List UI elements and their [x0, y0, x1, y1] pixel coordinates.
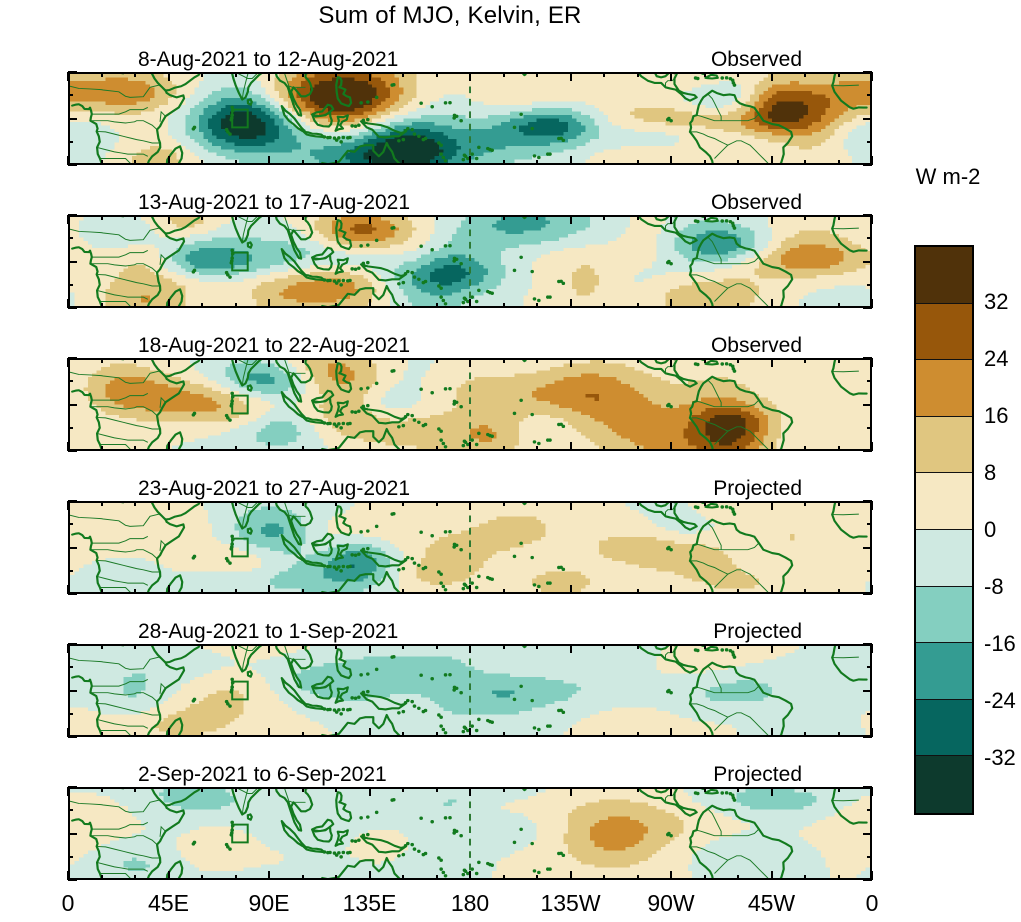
xtick-bottom-225 — [570, 871, 572, 880]
xtick-top-225 — [570, 358, 572, 367]
colorbar-tick-neg32: -32 — [984, 745, 1016, 771]
panel-6-date-range: 2-Sep-2021 to 6-Sep-2021 — [138, 762, 387, 787]
panel-3-status-label: Observed — [711, 333, 802, 358]
xtick-top-180 — [469, 644, 471, 653]
xtick-top-0 — [67, 501, 69, 510]
xtick-top-360 — [871, 787, 873, 796]
xtick-bottom-15 — [101, 732, 103, 737]
xtick-bottom-285 — [704, 160, 706, 165]
xtick-top-210 — [536, 787, 538, 792]
xtick-top-15 — [101, 501, 103, 506]
xtick-top-195 — [503, 644, 505, 649]
panel-4-plot-area — [68, 501, 872, 594]
ytick-right--20 — [863, 164, 872, 166]
xtick-top-345 — [838, 501, 840, 506]
xtick-bottom-120 — [335, 446, 337, 451]
xtick-bottom-195 — [503, 160, 505, 165]
xtick-top-0 — [67, 215, 69, 224]
map-panel-1: 8-Aug-2021 to 12-Aug-2021Observed20N020S — [68, 72, 872, 165]
ytick-right--10 — [867, 427, 872, 429]
xtick-bottom-300 — [737, 160, 739, 165]
xtick-top-45 — [168, 215, 170, 224]
ytick-left-20 — [68, 500, 77, 502]
xtick-top-15 — [101, 72, 103, 77]
ytick-right-0 — [863, 690, 872, 692]
xtick-top-15 — [101, 787, 103, 792]
xtick-bottom-180 — [469, 585, 471, 594]
xtick-bottom-270 — [670, 156, 672, 165]
xtick-bottom-240 — [603, 875, 605, 880]
ytick-right--10 — [867, 713, 872, 715]
ytick-left-0 — [68, 833, 77, 835]
ytick-right--10 — [867, 570, 872, 572]
xtick-top-150 — [402, 501, 404, 506]
map-panel-5: 28-Aug-2021 to 1-Sep-2021Projected20N020… — [68, 644, 872, 737]
xtick-top-330 — [804, 215, 806, 220]
xtick-bottom-330 — [804, 446, 806, 451]
ytick-left-20 — [68, 357, 77, 359]
xtick-bottom-330 — [804, 589, 806, 594]
xtick-top-315 — [771, 644, 773, 653]
colorbar-band-3 — [916, 417, 972, 474]
xtick-top-330 — [804, 358, 806, 363]
xtick-top-0 — [67, 358, 69, 367]
xtick-top-60 — [201, 72, 203, 77]
xtick-top-180 — [469, 72, 471, 81]
xtick-top-210 — [536, 501, 538, 506]
xtick-top-240 — [603, 215, 605, 220]
xtick-bottom-195 — [503, 732, 505, 737]
xtick-bottom-225 — [570, 156, 572, 165]
xtick-bottom-90 — [268, 442, 270, 451]
ytick-right-0 — [863, 118, 872, 120]
ytick-right--10 — [867, 856, 872, 858]
xtick-top-90 — [268, 787, 270, 796]
xtick-top-285 — [704, 501, 706, 506]
xtick-bottom-165 — [436, 875, 438, 880]
colorbar-band-6 — [916, 587, 972, 644]
xtick-bottom-60 — [201, 732, 203, 737]
xtick-bottom-330 — [804, 303, 806, 308]
xtick-top-210 — [536, 72, 538, 77]
ytick-right-20 — [863, 643, 872, 645]
ytick-right-20 — [863, 71, 872, 73]
colorbar-band-9 — [916, 756, 972, 813]
xtick-top-30 — [134, 72, 136, 77]
xtick-bottom-135 — [369, 442, 371, 451]
xtick-top-285 — [704, 72, 706, 77]
xtick-bottom-135 — [369, 299, 371, 308]
xtick-top-255 — [637, 215, 639, 220]
xtick-top-60 — [201, 501, 203, 506]
xtick-bottom-315 — [771, 728, 773, 737]
xtick-top-90 — [268, 72, 270, 81]
panel-3-plot-area — [68, 358, 872, 451]
xtick-top-225 — [570, 644, 572, 653]
x-axis: 045E90E135E180135W90W45W0 — [68, 884, 872, 920]
xtick-top-360 — [871, 358, 873, 367]
xtick-top-150 — [402, 358, 404, 363]
xtick-top-30 — [134, 358, 136, 363]
xtick-top-165 — [436, 644, 438, 649]
xtick-top-285 — [704, 787, 706, 792]
xtick-bottom-180 — [469, 728, 471, 737]
colorbar-tick-neg8: -8 — [984, 574, 1004, 600]
xtick-bottom-75 — [235, 446, 237, 451]
ytick-right-10 — [867, 237, 872, 239]
ytick-left--20 — [68, 593, 77, 595]
xtick-bottom-285 — [704, 589, 706, 594]
xtick-top-360 — [871, 72, 873, 81]
xtick-top-15 — [101, 358, 103, 363]
xtick-bottom-15 — [101, 589, 103, 594]
xtick-top-30 — [134, 501, 136, 506]
xtick-top-285 — [704, 358, 706, 363]
xaxis-label-3: 135E — [343, 890, 397, 917]
xtick-top-120 — [335, 215, 337, 220]
xtick-bottom-75 — [235, 303, 237, 308]
xtick-top-120 — [335, 787, 337, 792]
xtick-bottom-270 — [670, 728, 672, 737]
xtick-top-75 — [235, 72, 237, 77]
xtick-top-315 — [771, 72, 773, 81]
panel-5-date-range: 28-Aug-2021 to 1-Sep-2021 — [138, 619, 398, 644]
ytick-left--10 — [68, 427, 73, 429]
xtick-bottom-165 — [436, 446, 438, 451]
xaxis-label-0: 0 — [62, 890, 75, 917]
xtick-bottom-240 — [603, 589, 605, 594]
xtick-bottom-345 — [838, 589, 840, 594]
xtick-bottom-15 — [101, 303, 103, 308]
xtick-bottom-135 — [369, 728, 371, 737]
ytick-right--20 — [863, 307, 872, 309]
xtick-bottom-210 — [536, 875, 538, 880]
xtick-bottom-60 — [201, 589, 203, 594]
xtick-top-135 — [369, 644, 371, 653]
xtick-bottom-75 — [235, 160, 237, 165]
panel-6-status-label: Projected — [713, 762, 802, 787]
colorbar-tick-neg16: -16 — [984, 631, 1016, 657]
xtick-bottom-30 — [134, 303, 136, 308]
xtick-top-90 — [268, 501, 270, 510]
xtick-bottom-330 — [804, 732, 806, 737]
panel-4-date-range: 23-Aug-2021 to 27-Aug-2021 — [138, 476, 410, 501]
xtick-bottom-225 — [570, 442, 572, 451]
xtick-top-240 — [603, 644, 605, 649]
xtick-bottom-210 — [536, 589, 538, 594]
xtick-top-90 — [268, 358, 270, 367]
colorbar-tick-16: 16 — [984, 403, 1008, 429]
ytick-right-10 — [867, 809, 872, 811]
xtick-top-315 — [771, 787, 773, 796]
ytick-left-20 — [68, 214, 77, 216]
xtick-bottom-225 — [570, 728, 572, 737]
xtick-bottom-15 — [101, 160, 103, 165]
xtick-top-60 — [201, 787, 203, 792]
panel-5-status-label: Projected — [713, 619, 802, 644]
xtick-bottom-270 — [670, 871, 672, 880]
xtick-top-45 — [168, 787, 170, 796]
xtick-top-45 — [168, 358, 170, 367]
xtick-bottom-135 — [369, 871, 371, 880]
xtick-top-15 — [101, 215, 103, 220]
xtick-top-345 — [838, 72, 840, 77]
xtick-top-330 — [804, 501, 806, 506]
xtick-top-225 — [570, 501, 572, 510]
xtick-bottom-150 — [402, 875, 404, 880]
xtick-top-165 — [436, 501, 438, 506]
xtick-top-135 — [369, 787, 371, 796]
xtick-bottom-30 — [134, 160, 136, 165]
xtick-bottom-345 — [838, 732, 840, 737]
xtick-bottom-150 — [402, 160, 404, 165]
xtick-top-270 — [670, 644, 672, 653]
xtick-top-345 — [838, 644, 840, 649]
xtick-bottom-30 — [134, 589, 136, 594]
xtick-bottom-270 — [670, 299, 672, 308]
xtick-bottom-90 — [268, 156, 270, 165]
ytick-left--20 — [68, 879, 77, 881]
xtick-top-255 — [637, 358, 639, 363]
ytick-left-0 — [68, 547, 77, 549]
xtick-top-180 — [469, 358, 471, 367]
xtick-bottom-90 — [268, 728, 270, 737]
xtick-top-285 — [704, 215, 706, 220]
xtick-top-315 — [771, 215, 773, 224]
xtick-top-255 — [637, 787, 639, 792]
xtick-bottom-15 — [101, 446, 103, 451]
panel-2-date-range: 13-Aug-2021 to 17-Aug-2021 — [138, 190, 410, 215]
ytick-left--20 — [68, 164, 77, 166]
xaxis-label-1: 45E — [148, 890, 189, 917]
xtick-bottom-60 — [201, 160, 203, 165]
xtick-bottom-315 — [771, 871, 773, 880]
ytick-right-0 — [863, 833, 872, 835]
xtick-bottom-225 — [570, 299, 572, 308]
xtick-bottom-120 — [335, 875, 337, 880]
xtick-top-75 — [235, 501, 237, 506]
xtick-bottom-180 — [469, 156, 471, 165]
xtick-top-345 — [838, 787, 840, 792]
map-panel-2: 13-Aug-2021 to 17-Aug-2021Observed20N020… — [68, 215, 872, 308]
colorbar-tick-32: 32 — [984, 289, 1008, 315]
xtick-bottom-240 — [603, 446, 605, 451]
xaxis-label-8: 0 — [866, 890, 879, 917]
ytick-right--20 — [863, 450, 872, 452]
ytick-right-20 — [863, 786, 872, 788]
xtick-top-210 — [536, 644, 538, 649]
xtick-bottom-45 — [168, 299, 170, 308]
xtick-top-330 — [804, 787, 806, 792]
xtick-bottom-45 — [168, 871, 170, 880]
xtick-top-60 — [201, 215, 203, 220]
ytick-left--10 — [68, 713, 73, 715]
ytick-right--20 — [863, 879, 872, 881]
xtick-bottom-45 — [168, 156, 170, 165]
xtick-bottom-210 — [536, 732, 538, 737]
xtick-top-195 — [503, 501, 505, 506]
ytick-right-20 — [863, 357, 872, 359]
panel-1-plot-area — [68, 72, 872, 165]
xtick-top-90 — [268, 644, 270, 653]
ytick-right--20 — [863, 736, 872, 738]
xtick-top-105 — [302, 787, 304, 792]
xtick-bottom-255 — [637, 732, 639, 737]
xtick-top-150 — [402, 215, 404, 220]
xtick-top-300 — [737, 358, 739, 363]
xtick-top-240 — [603, 501, 605, 506]
xtick-bottom-270 — [670, 585, 672, 594]
xtick-bottom-165 — [436, 732, 438, 737]
xtick-bottom-225 — [570, 585, 572, 594]
xtick-bottom-180 — [469, 442, 471, 451]
colorbar-tick-24: 24 — [984, 346, 1008, 372]
ytick-left-0 — [68, 118, 77, 120]
ytick-left-10 — [68, 380, 73, 382]
xtick-top-135 — [369, 501, 371, 510]
xtick-top-315 — [771, 358, 773, 367]
xtick-top-270 — [670, 358, 672, 367]
xtick-bottom-135 — [369, 585, 371, 594]
xtick-bottom-15 — [101, 875, 103, 880]
xtick-top-45 — [168, 72, 170, 81]
xtick-top-45 — [168, 644, 170, 653]
xtick-top-165 — [436, 787, 438, 792]
xtick-bottom-240 — [603, 303, 605, 308]
xtick-bottom-120 — [335, 589, 337, 594]
ytick-left-0 — [68, 261, 77, 263]
xtick-top-165 — [436, 215, 438, 220]
ytick-right-20 — [863, 500, 872, 502]
ytick-left-10 — [68, 809, 73, 811]
xtick-top-240 — [603, 72, 605, 77]
xtick-top-0 — [67, 644, 69, 653]
colorbar-band-8 — [916, 700, 972, 757]
xtick-bottom-90 — [268, 299, 270, 308]
xtick-top-225 — [570, 787, 572, 796]
ytick-left-20 — [68, 71, 77, 73]
ytick-right-10 — [867, 523, 872, 525]
xtick-top-180 — [469, 501, 471, 510]
ytick-left-10 — [68, 237, 73, 239]
xtick-top-135 — [369, 358, 371, 367]
colorbar-band-2 — [916, 360, 972, 417]
xtick-bottom-105 — [302, 732, 304, 737]
xtick-bottom-345 — [838, 875, 840, 880]
xtick-bottom-345 — [838, 160, 840, 165]
xtick-bottom-210 — [536, 446, 538, 451]
xtick-bottom-75 — [235, 875, 237, 880]
xtick-bottom-45 — [168, 585, 170, 594]
xtick-bottom-240 — [603, 160, 605, 165]
xtick-top-75 — [235, 358, 237, 363]
xtick-bottom-195 — [503, 446, 505, 451]
xtick-top-195 — [503, 215, 505, 220]
panel-4-status-label: Projected — [713, 476, 802, 501]
xtick-bottom-150 — [402, 732, 404, 737]
xtick-bottom-180 — [469, 299, 471, 308]
xtick-top-120 — [335, 501, 337, 506]
xtick-bottom-195 — [503, 875, 505, 880]
ytick-right-0 — [863, 547, 872, 549]
xtick-top-255 — [637, 501, 639, 506]
xtick-bottom-45 — [168, 442, 170, 451]
xtick-bottom-165 — [436, 160, 438, 165]
xtick-bottom-105 — [302, 303, 304, 308]
colorbar-tick-8: 8 — [984, 460, 996, 486]
xtick-top-165 — [436, 358, 438, 363]
xtick-top-345 — [838, 358, 840, 363]
xtick-bottom-105 — [302, 589, 304, 594]
colorbar-tick-neg24: -24 — [984, 688, 1016, 714]
xtick-top-150 — [402, 644, 404, 649]
xtick-top-180 — [469, 787, 471, 796]
panel-2-plot-area — [68, 215, 872, 308]
ytick-left-10 — [68, 94, 73, 96]
panel-stack: 8-Aug-2021 to 12-Aug-2021Observed20N020S… — [0, 0, 900, 922]
xtick-bottom-285 — [704, 303, 706, 308]
xtick-bottom-240 — [603, 732, 605, 737]
xtick-bottom-195 — [503, 589, 505, 594]
xtick-top-60 — [201, 644, 203, 649]
panel-6-plot-area — [68, 787, 872, 880]
xtick-bottom-330 — [804, 160, 806, 165]
xtick-top-345 — [838, 215, 840, 220]
xtick-top-30 — [134, 644, 136, 649]
xtick-top-120 — [335, 72, 337, 77]
xtick-bottom-285 — [704, 732, 706, 737]
xtick-bottom-150 — [402, 446, 404, 451]
xtick-top-120 — [335, 358, 337, 363]
xtick-bottom-255 — [637, 446, 639, 451]
xtick-top-255 — [637, 72, 639, 77]
xtick-bottom-75 — [235, 732, 237, 737]
xtick-bottom-180 — [469, 871, 471, 880]
xtick-bottom-165 — [436, 303, 438, 308]
xtick-top-180 — [469, 215, 471, 224]
xtick-top-105 — [302, 501, 304, 506]
ytick-right--10 — [867, 141, 872, 143]
ytick-right-0 — [863, 404, 872, 406]
xtick-top-165 — [436, 72, 438, 77]
xaxis-label-4: 180 — [451, 890, 489, 917]
xtick-top-285 — [704, 644, 706, 649]
xtick-top-195 — [503, 787, 505, 792]
xaxis-label-5: 135W — [540, 890, 600, 917]
xtick-top-255 — [637, 644, 639, 649]
xtick-bottom-75 — [235, 589, 237, 594]
xtick-top-240 — [603, 787, 605, 792]
xtick-top-75 — [235, 644, 237, 649]
colorbar-band-1 — [916, 304, 972, 361]
xtick-bottom-105 — [302, 446, 304, 451]
xtick-bottom-330 — [804, 875, 806, 880]
xtick-top-150 — [402, 72, 404, 77]
xtick-top-105 — [302, 72, 304, 77]
xtick-bottom-345 — [838, 446, 840, 451]
xtick-top-30 — [134, 787, 136, 792]
xtick-top-270 — [670, 501, 672, 510]
xtick-top-195 — [503, 358, 505, 363]
panel-2-status-label: Observed — [711, 190, 802, 215]
ytick-left--10 — [68, 141, 73, 143]
xtick-bottom-300 — [737, 303, 739, 308]
map-panel-3: 18-Aug-2021 to 22-Aug-2021Observed20N020… — [68, 358, 872, 451]
xtick-top-360 — [871, 501, 873, 510]
xtick-top-300 — [737, 501, 739, 506]
xtick-bottom-315 — [771, 299, 773, 308]
xtick-bottom-255 — [637, 160, 639, 165]
